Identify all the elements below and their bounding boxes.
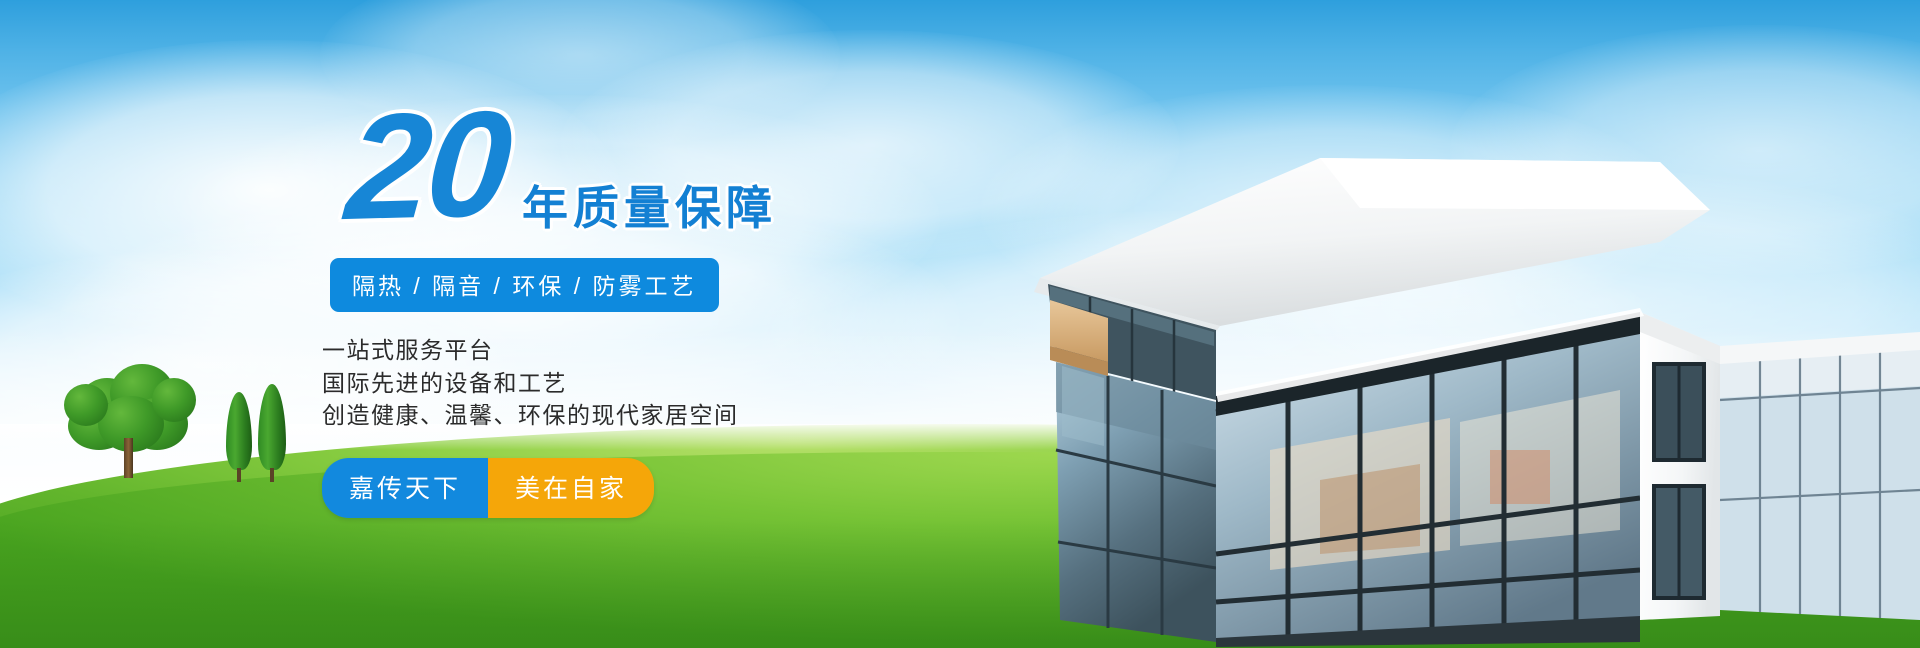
description-line: 一站式服务平台	[322, 334, 1020, 367]
headline-row: 20 年质量保障	[300, 96, 1020, 248]
left-gable-glass	[1056, 362, 1216, 642]
years-number: 20	[342, 88, 513, 242]
cta-button-group[interactable]: 嘉传天下 美在自家	[322, 458, 654, 518]
promo-copy-block: 20 年质量保障 隔热 / 隔音 / 环保 / 防雾工艺 一站式服务平台 国际先…	[300, 96, 1020, 518]
cypress-icon	[258, 384, 286, 470]
description-line: 创造健康、温馨、环保的现代家居空间	[322, 399, 1020, 432]
features-pill: 隔热 / 隔音 / 环保 / 防雾工艺	[330, 258, 719, 312]
cta-secondary-button[interactable]: 美在自家	[488, 458, 654, 518]
right-wall	[1640, 312, 1720, 620]
description-line: 国际先进的设备和工艺	[322, 367, 1020, 400]
glass-sunroom-building	[1020, 150, 1920, 648]
cypress-icon	[226, 392, 252, 470]
tree-icon	[64, 362, 196, 478]
front-glass-wall	[1216, 312, 1640, 647]
years-number-wrap: 20	[328, 90, 507, 240]
promo-banner: 20 年质量保障 隔热 / 隔音 / 环保 / 防雾工艺 一站式服务平台 国际先…	[0, 0, 1920, 648]
description-lines: 一站式服务平台 国际先进的设备和工艺 创造健康、温馨、环保的现代家居空间	[322, 334, 1020, 432]
cta-primary-button[interactable]: 嘉传天下	[322, 458, 488, 518]
headline-suffix: 年质量保障	[522, 172, 777, 238]
